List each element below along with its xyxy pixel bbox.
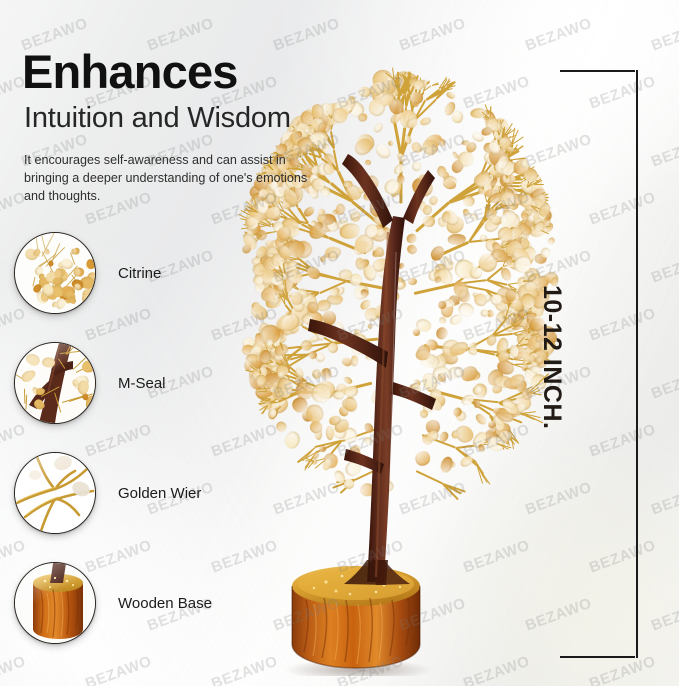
citrine-chip <box>48 260 54 266</box>
feature-label-golden-wier: Golden Wier <box>118 485 201 502</box>
watermark-text: BEZAWO <box>83 653 154 686</box>
trunk-seal-icon <box>14 342 96 424</box>
feature-golden-wier: Golden Wier <box>14 452 201 534</box>
wooden-log-icon <box>14 562 96 644</box>
citrine-chips-icon <box>14 232 96 314</box>
watermark-text: BEZAWO <box>649 15 679 55</box>
feature-mseal: M-Seal <box>14 342 166 424</box>
gold-wire-icon <box>14 452 96 534</box>
watermark-text: BEZAWO <box>649 247 679 287</box>
watermark-text: BEZAWO <box>523 15 594 55</box>
tree-trunk <box>236 52 576 662</box>
bracket-vertical-line <box>636 70 638 658</box>
citrine-gemstone-tree <box>236 52 576 662</box>
bracket-top-tick <box>560 70 635 72</box>
watermark-text: BEZAWO <box>397 15 468 55</box>
page-subtitle: Intuition and Wisdom <box>24 102 291 134</box>
headline-block: Enhances Intuition and Wisdom <box>22 48 291 134</box>
citrine-chip <box>73 268 80 276</box>
dimension-bracket <box>560 70 638 658</box>
feature-label-mseal: M-Seal <box>118 375 166 392</box>
feature-label-citrine: Citrine <box>118 265 161 282</box>
feature-wooden-base: Wooden Base <box>14 562 212 644</box>
watermark-text: BEZAWO <box>649 363 679 403</box>
page-title: Enhances <box>22 48 291 95</box>
citrine-chip <box>72 379 78 386</box>
dimension-label: 10-12 INCH. <box>537 285 566 429</box>
infographic-canvas: Enhances Intuition and Wisdom It encoura… <box>0 0 679 686</box>
watermark-text: BEZAWO <box>0 653 28 686</box>
feature-label-wooden-base: Wooden Base <box>118 595 212 612</box>
bracket-bottom-tick <box>560 656 635 658</box>
feature-citrine: Citrine <box>14 232 161 314</box>
watermark-text: BEZAWO <box>649 131 679 171</box>
watermark-text: BEZAWO <box>649 595 679 635</box>
watermark-text: BEZAWO <box>649 479 679 519</box>
description-text: It encourages self-awareness and can ass… <box>24 152 316 206</box>
